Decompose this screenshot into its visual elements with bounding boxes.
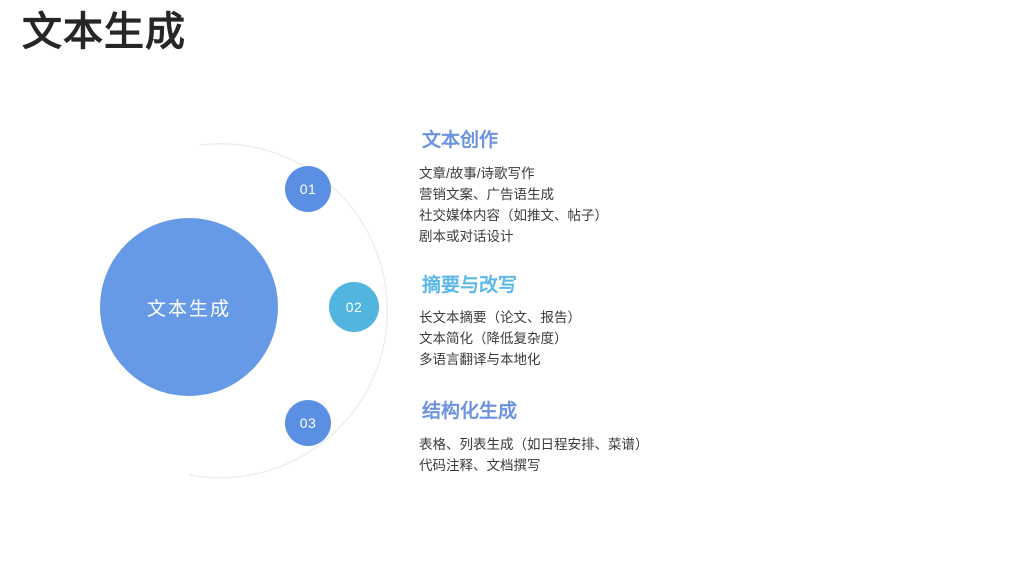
list-item: 代码注释、文档撰写 (419, 455, 979, 476)
hub-label: 文本生成 (147, 294, 231, 321)
list-item: 文章/故事/诗歌写作 (419, 163, 979, 184)
content-column: 文本创作 文章/故事/诗歌写作 营销文案、广告语生成 社交媒体内容（如推文、帖子… (419, 128, 979, 476)
list-item: 剧本或对话设计 (419, 226, 979, 247)
list-item: 营销文案、广告语生成 (419, 184, 979, 205)
list-item: 长文本摘要（论文、报告） (419, 307, 979, 328)
orbit-badge-02-label: 02 (346, 299, 363, 315)
orbit-diagram: 文本生成 01 02 03 (0, 100, 420, 500)
orbit-badge-02[interactable]: 02 (329, 282, 379, 332)
section-structured-generation: 结构化生成 表格、列表生成（如日程安排、菜谱） 代码注释、文档撰写 (419, 399, 979, 476)
section-structured-generation-list: 表格、列表生成（如日程安排、菜谱） 代码注释、文档撰写 (419, 434, 979, 476)
orbit-badge-01-label: 01 (300, 181, 317, 197)
section-text-creation: 文本创作 文章/故事/诗歌写作 营销文案、广告语生成 社交媒体内容（如推文、帖子… (419, 128, 979, 247)
section-summary-rewrite: 摘要与改写 长文本摘要（论文、报告） 文本简化（降低复杂度） 多语言翻译与本地化 (419, 273, 979, 371)
section-summary-rewrite-heading: 摘要与改写 (422, 273, 979, 299)
section-structured-generation-heading: 结构化生成 (422, 399, 979, 425)
section-text-creation-list: 文章/故事/诗歌写作 营销文案、广告语生成 社交媒体内容（如推文、帖子） 剧本或… (419, 163, 979, 247)
list-item: 文本简化（降低复杂度） (419, 328, 979, 349)
list-item: 多语言翻译与本地化 (419, 349, 979, 370)
page-title: 文本生成 (22, 8, 186, 56)
orbit-badge-01[interactable]: 01 (285, 166, 331, 212)
hub-circle[interactable]: 文本生成 (100, 218, 278, 396)
section-summary-rewrite-list: 长文本摘要（论文、报告） 文本简化（降低复杂度） 多语言翻译与本地化 (419, 307, 979, 370)
orbit-badge-03[interactable]: 03 (285, 400, 331, 446)
orbit-badge-03-label: 03 (300, 415, 317, 431)
list-item: 表格、列表生成（如日程安排、菜谱） (419, 434, 979, 455)
section-text-creation-heading: 文本创作 (422, 128, 979, 154)
list-item: 社交媒体内容（如推文、帖子） (419, 205, 979, 226)
